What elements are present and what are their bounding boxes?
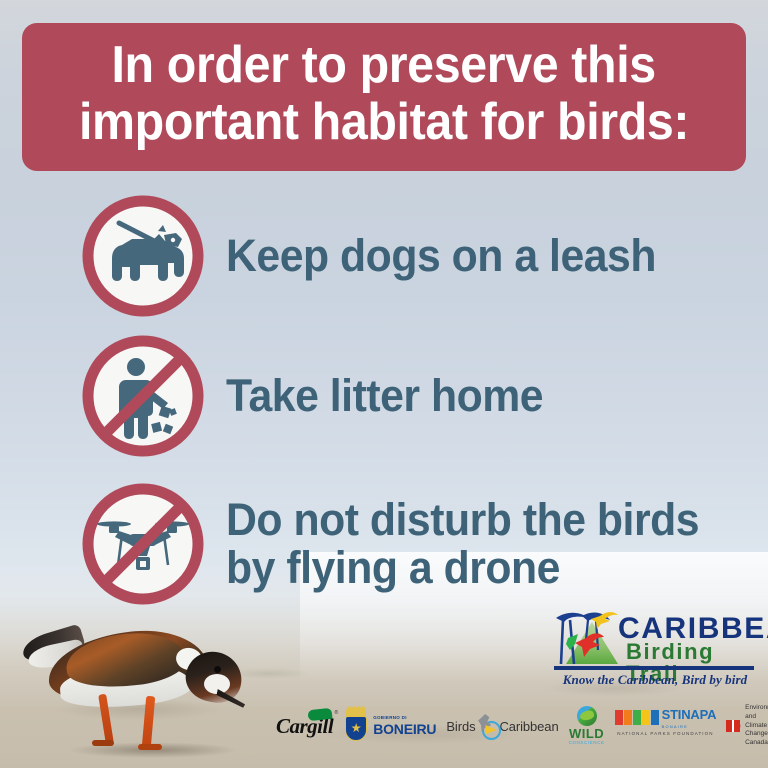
wild-subtitle: CONSCIENCE bbox=[569, 741, 605, 746]
cargill-trademark: ® bbox=[335, 710, 339, 716]
boneiru-text: GOBIERNO DI BONEIRU bbox=[373, 716, 436, 736]
rule-row-drone: Do not disturb the birds by flying a dro… bbox=[78, 479, 748, 609]
ruddy-turnstone-photo bbox=[8, 592, 278, 762]
wild-wordmark: WILD bbox=[569, 727, 604, 740]
stinapa-block-3 bbox=[633, 710, 641, 725]
boneiru-crest-icon bbox=[343, 709, 369, 743]
bird-cheek-patch bbox=[204, 674, 230, 694]
rule-label-drone: Do not disturb the birds by flying a dro… bbox=[226, 496, 699, 591]
rule-label-dogs: Keep dogs on a leash bbox=[226, 232, 656, 280]
bird-eye bbox=[214, 666, 221, 673]
maple-leaf-icon bbox=[734, 721, 741, 731]
stinapa-block-5 bbox=[651, 710, 659, 725]
stinapa-color-blocks-icon bbox=[615, 710, 659, 725]
birds-caribbean-word2: Caribbean bbox=[499, 719, 558, 734]
cbt-emblem-icon bbox=[552, 608, 624, 670]
stinapa-block-2 bbox=[624, 710, 632, 725]
boneiru-wordmark: BONEIRU bbox=[373, 722, 436, 736]
wild-globe-icon bbox=[577, 706, 597, 726]
no-drones-icon bbox=[78, 479, 208, 609]
rule-row-litter: Take litter home bbox=[78, 331, 748, 461]
bird-foot-left bbox=[92, 740, 114, 746]
environment-canada-text: Environment and Climate Change Canada bbox=[745, 704, 768, 748]
rule-row-dogs: Keep dogs on a leash bbox=[78, 191, 748, 321]
sponsor-wild-conscience[interactable]: WILD CONSCIENCE bbox=[569, 706, 605, 746]
no-dogs-off-leash-icon bbox=[78, 191, 208, 321]
birds-caribbean-word1: Birds bbox=[446, 719, 475, 734]
stinapa-name-group: STINAPA BONAIRE bbox=[662, 706, 717, 729]
cbt-divider bbox=[554, 666, 754, 670]
birds-caribbean-bird-icon bbox=[476, 714, 498, 738]
stinapa-block-1 bbox=[615, 710, 623, 725]
no-littering-icon bbox=[78, 331, 208, 461]
sponsor-cargill[interactable]: Cargill ® bbox=[276, 706, 333, 746]
banner-line-1: In order to preserve this bbox=[112, 37, 656, 94]
sponsor-logo-strip: Cargill ® GOBIERNO DI BONEIRU Birds Cari… bbox=[276, 703, 760, 749]
rule-label-litter: Take litter home bbox=[226, 372, 543, 420]
poster-canvas: In order to preserve this important habi… bbox=[0, 0, 768, 768]
header-banner: In order to preserve this important habi… bbox=[22, 23, 746, 171]
stinapa-subtitle: NATIONAL PARKS FOUNDATION bbox=[617, 731, 713, 736]
sponsor-environment-canada[interactable]: Environment and Climate Change Canada bbox=[726, 706, 768, 746]
canada-flag-icon bbox=[726, 720, 740, 732]
caribbean-birding-trail-logo[interactable]: CARIBBEAN Birding Trail Know the Caribbe… bbox=[552, 608, 754, 688]
stinapa-top-row: STINAPA BONAIRE bbox=[615, 706, 717, 729]
stinapa-block-4 bbox=[642, 710, 650, 725]
banner-line-2: important habitat for birds: bbox=[79, 94, 689, 151]
sponsor-birds-caribbean[interactable]: Birds Caribbean bbox=[446, 706, 558, 746]
sponsor-stinapa[interactable]: STINAPA BONAIRE NATIONAL PARKS FOUNDATIO… bbox=[615, 706, 717, 746]
stinapa-wordmark: STINAPA bbox=[662, 707, 717, 722]
cbt-tagline: Know the Caribbean, Bird by bird bbox=[555, 672, 755, 688]
sponsor-boneiru[interactable]: GOBIERNO DI BONEIRU bbox=[343, 706, 436, 746]
stinapa-location: BONAIRE bbox=[662, 724, 717, 729]
bird-foot-right bbox=[138, 744, 162, 750]
